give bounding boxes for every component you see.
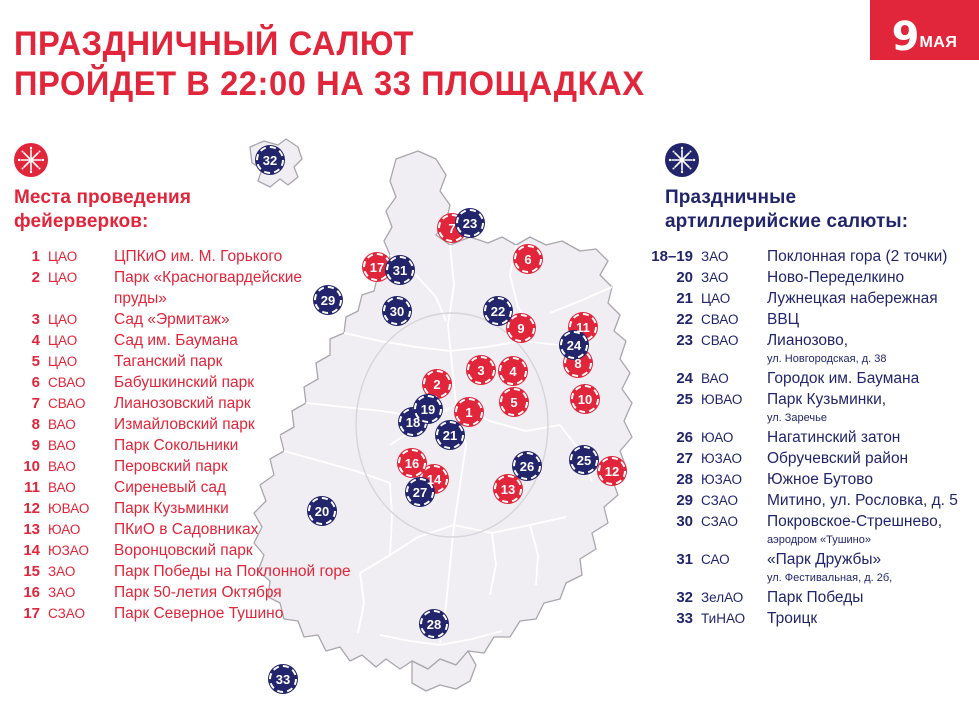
item-number: 24 <box>645 368 693 389</box>
marker-label: 24 <box>567 339 581 352</box>
marker-label: 19 <box>421 403 435 416</box>
list-item: 33ТиНАОТроицк <box>645 608 979 629</box>
item-district: СЗАО <box>693 511 757 532</box>
list-item: 14ЮЗАОВоронцовский парк <box>8 540 398 561</box>
item-number: 2 <box>8 267 40 288</box>
item-number: 33 <box>645 608 693 629</box>
map-marker-22[interactable]: 22 <box>483 296 513 326</box>
list-item: 1ЦАОЦПКиО им. М. Горького <box>8 246 398 267</box>
item-number: 8 <box>8 414 40 435</box>
marker-label: 20 <box>315 505 329 518</box>
marker-label: 23 <box>463 217 477 230</box>
item-number: 17 <box>8 603 40 624</box>
item-number: 6 <box>8 372 40 393</box>
item-venue-name: Парк Кузьминки, <box>757 389 979 410</box>
map-marker-23[interactable]: 23 <box>455 208 485 238</box>
item-venue-name: Парк «Красногвардейские <box>104 267 398 288</box>
item-number: 31 <box>645 549 693 570</box>
right-venue-list: 18–19ЗАОПоклонная гора (2 точки)20ЗАОНов… <box>645 246 979 629</box>
item-district: ТиНАО <box>693 608 757 629</box>
item-district: ВАО <box>40 456 104 477</box>
marker-label: 18 <box>406 416 420 429</box>
item-number: 13 <box>8 519 40 540</box>
item-district: СВАО <box>40 372 104 393</box>
list-item: 22СВАОВВЦ <box>645 309 979 330</box>
item-venue-name: Городок им. Баумана <box>757 368 979 389</box>
artillery-heading: Праздничные артиллерийские салюты: <box>665 186 975 235</box>
list-item: 15ЗАОПарк Победы на Поклонной горе <box>8 561 398 582</box>
artillery-heading-line-1: Праздничные <box>665 186 975 210</box>
item-address-detail: ул. Новгородская, д. 38 <box>767 351 979 368</box>
list-item: 25ЮВАОПарк Кузьминки, <box>645 389 979 410</box>
item-district: ЦАО <box>40 267 104 288</box>
item-venue-name: Парк 50-летия Октября <box>104 582 398 603</box>
marker-label: 26 <box>520 460 534 473</box>
item-district: ЗАО <box>693 267 757 288</box>
item-venue-name: Лужнецкая набережная <box>757 288 979 309</box>
list-item: 17СЗАОПарк Северное Тушино <box>8 603 398 624</box>
item-district: ЗАО <box>40 561 104 582</box>
item-district: ЦАО <box>40 351 104 372</box>
item-number: 14 <box>8 540 40 561</box>
marker-label: 4 <box>509 365 516 378</box>
item-district: ЦАО <box>40 309 104 330</box>
item-venue-name: Лианозово, <box>757 330 979 351</box>
map-marker-28[interactable]: 28 <box>419 609 449 639</box>
item-number: 5 <box>8 351 40 372</box>
item-venue-name: Парк Сокольники <box>104 435 398 456</box>
item-venue-name: Воронцовский парк <box>104 540 398 561</box>
item-number: 25 <box>645 389 693 410</box>
item-address-detail: ул. Заречье <box>767 410 979 427</box>
item-number: 22 <box>645 309 693 330</box>
list-item: 8ВАОИзмайловский парк <box>8 414 398 435</box>
list-item: 18–19ЗАОПоклонная гора (2 точки) <box>645 246 979 267</box>
item-venue-name: Бабушкинский парк <box>104 372 398 393</box>
marker-label: 32 <box>263 154 277 167</box>
page-title: ПРАЗДНИЧНЫЙ САЛЮТ ПРОЙДЕТ В 22:00 НА 33 … <box>14 24 811 104</box>
item-number: 3 <box>8 309 40 330</box>
item-venue-name: Покровское-Стрешнево, <box>757 511 979 532</box>
item-venue-name: Нагатинский затон <box>757 427 979 448</box>
list-item: 10ВАОПеровский парк <box>8 456 398 477</box>
item-address-detail: ул. Фестивальная, д. 2б, <box>767 570 979 587</box>
item-venue-name: Парк Северное Тушино <box>104 603 398 624</box>
map-marker-5[interactable]: 5 <box>499 387 529 417</box>
firework-icon <box>665 143 699 177</box>
item-district: ЗАО <box>40 582 104 603</box>
item-venue-name: Лианозовский парк <box>104 393 398 414</box>
list-item: 29СЗАОМитино, ул. Рословка, д. 5 <box>645 490 979 511</box>
map-marker-25[interactable]: 25 <box>569 445 599 475</box>
item-venue-name: Парк Победы <box>757 587 979 608</box>
list-item: 13ЮАОПКиО в Садовниках <box>8 519 398 540</box>
list-item: 20ЗАОНово-Переделкино <box>645 267 979 288</box>
victory-day-logo: 9 МАЯ <box>870 0 979 60</box>
item-venue-name: Сад «Эрмитаж» <box>104 309 398 330</box>
item-number: 4 <box>8 330 40 351</box>
map-marker-10[interactable]: 10 <box>570 384 600 414</box>
marker-label: 25 <box>577 454 591 467</box>
list-item: 11ВАОСиреневый сад <box>8 477 398 498</box>
list-item: 32ЗелАОПарк Победы <box>645 587 979 608</box>
marker-label: 6 <box>524 253 531 266</box>
item-district: СВАО <box>693 330 757 351</box>
map-marker-16[interactable]: 16 <box>397 448 427 478</box>
marker-label: 9 <box>517 322 524 335</box>
item-number: 18–19 <box>645 246 693 267</box>
item-number: 32 <box>645 587 693 608</box>
item-district: ВАО <box>40 477 104 498</box>
list-item: 7СВАОЛианозовский парк <box>8 393 398 414</box>
marker-label: 30 <box>390 305 404 318</box>
item-venue-name-continued: пруды» <box>114 288 398 309</box>
item-venue-name: Перовский парк <box>104 456 398 477</box>
item-number: 7 <box>8 393 40 414</box>
map-marker-20[interactable]: 20 <box>307 496 337 526</box>
item-district: СЗАО <box>693 490 757 511</box>
item-district: САО <box>693 549 757 570</box>
item-district: ЮЗАО <box>693 448 757 469</box>
artillery-section-header: Праздничные артиллерийские салюты: <box>665 143 975 235</box>
marker-label: 17 <box>370 261 384 274</box>
item-number: 20 <box>645 267 693 288</box>
marker-label: 3 <box>477 364 484 377</box>
map-marker-30[interactable]: 30 <box>382 296 412 326</box>
title-line-1: ПРАЗДНИЧНЫЙ САЛЮТ <box>14 25 414 63</box>
list-item: 12ЮВАОПарк Кузьминки <box>8 498 398 519</box>
item-district: ВАО <box>693 368 757 389</box>
item-venue-name: Сиреневый сад <box>104 477 398 498</box>
item-district: ЮВАО <box>40 498 104 519</box>
item-number: 9 <box>8 435 40 456</box>
item-address-detail: аэродром «Тушино» <box>767 532 979 549</box>
item-district: ЮЗАО <box>40 540 104 561</box>
list-item: 16ЗАОПарк 50-летия Октября <box>8 582 398 603</box>
item-district: СВАО <box>40 393 104 414</box>
item-district: ЮЗАО <box>693 469 757 490</box>
item-venue-name: «Парк Дружбы» <box>757 549 979 570</box>
marker-label: 12 <box>605 465 619 478</box>
item-number: 28 <box>645 469 693 490</box>
marker-label: 5 <box>510 396 517 409</box>
marker-label: 2 <box>433 378 440 391</box>
map-marker-31[interactable]: 31 <box>385 255 415 285</box>
item-number: 21 <box>645 288 693 309</box>
item-district: ЦАО <box>40 330 104 351</box>
marker-label: 33 <box>276 673 290 686</box>
map-marker-32[interactable]: 32 <box>255 145 285 175</box>
marker-label: 7 <box>448 222 455 235</box>
item-venue-name: ПКиО в Садовниках <box>104 519 398 540</box>
item-district: СВАО <box>693 309 757 330</box>
item-venue-name: Поклонная гора (2 точки) <box>757 246 979 267</box>
list-item: 2ЦАОПарк «Красногвардейские <box>8 267 398 288</box>
marker-label: 16 <box>405 457 419 470</box>
item-district: СЗАО <box>40 603 104 624</box>
map-marker-21[interactable]: 21 <box>435 420 465 450</box>
marker-label: 11 <box>576 321 590 334</box>
map-marker-12[interactable]: 12 <box>597 456 627 486</box>
item-district: ЗАО <box>693 246 757 267</box>
item-number: 11 <box>8 477 40 498</box>
list-item: 24ВАОГородок им. Баумана <box>645 368 979 389</box>
item-number: 16 <box>8 582 40 603</box>
list-item: 6СВАОБабушкинский парк <box>8 372 398 393</box>
item-venue-name: Ново-Переделкино <box>757 267 979 288</box>
item-venue-name: Обручевский район <box>757 448 979 469</box>
list-item: 4ЦАОСад им. Баумана <box>8 330 398 351</box>
map-marker-6[interactable]: 6 <box>513 244 543 274</box>
list-item: 26ЮАОНагатинский затон <box>645 427 979 448</box>
infographic-page: 9 МАЯ ПРАЗДНИЧНЫЙ САЛЮТ ПРОЙДЕТ В 22:00 … <box>0 0 979 703</box>
item-venue-name: Митино, ул. Рословка, д. 5 <box>757 490 979 511</box>
marker-label: 28 <box>427 618 441 631</box>
item-number: 30 <box>645 511 693 532</box>
marker-label: 14 <box>427 473 441 486</box>
item-venue-name: Парк Победы на Поклонной горе <box>104 561 398 582</box>
logo-word: МАЯ <box>918 35 957 54</box>
item-district: ЮАО <box>693 427 757 448</box>
list-item: 21ЦАОЛужнецкая набережная <box>645 288 979 309</box>
title-line-2: ПРОЙДЕТ В 22:00 НА 33 ПЛОЩАДКАХ <box>14 64 811 104</box>
item-district: ВАО <box>40 435 104 456</box>
list-item: 3ЦАОСад «Эрмитаж» <box>8 309 398 330</box>
list-item: 5ЦАОТаганский парк <box>8 351 398 372</box>
marker-label: 31 <box>393 264 407 277</box>
map-marker-4[interactable]: 4 <box>498 356 528 386</box>
item-venue-name: Южное Бутово <box>757 469 979 490</box>
marker-label: 21 <box>443 429 457 442</box>
marker-label: 22 <box>491 305 505 318</box>
list-item: 23СВАОЛианозово, <box>645 330 979 351</box>
item-number: 12 <box>8 498 40 519</box>
marker-label: 13 <box>501 483 515 496</box>
item-number: 29 <box>645 490 693 511</box>
marker-label: 29 <box>321 294 335 307</box>
item-number: 15 <box>8 561 40 582</box>
item-district: ЦАО <box>693 288 757 309</box>
list-item: 31САО«Парк Дружбы» <box>645 549 979 570</box>
item-number: 23 <box>645 330 693 351</box>
item-district: ЮВАО <box>693 389 757 410</box>
item-venue-name: Таганский парк <box>104 351 398 372</box>
item-number: 1 <box>8 246 40 267</box>
map-marker-26[interactable]: 26 <box>512 451 542 481</box>
firework-icon <box>14 143 48 177</box>
map-marker-29[interactable]: 29 <box>313 285 343 315</box>
item-district: ЗелАО <box>693 587 757 608</box>
item-venue-name: Измайловский парк <box>104 414 398 435</box>
map-marker-33[interactable]: 33 <box>268 664 298 694</box>
item-number: 10 <box>8 456 40 477</box>
logo-number: 9 <box>892 20 919 54</box>
item-number: 27 <box>645 448 693 469</box>
item-district: ЮАО <box>40 519 104 540</box>
list-item: 30СЗАОПокровское-Стрешнево, <box>645 511 979 532</box>
marker-label: 27 <box>413 486 427 499</box>
list-item: 9ВАОПарк Сокольники <box>8 435 398 456</box>
marker-label: 1 <box>465 406 472 419</box>
item-venue-name: Сад им. Баумана <box>104 330 398 351</box>
item-district: ВАО <box>40 414 104 435</box>
list-item: 27ЮЗАООбручевский район <box>645 448 979 469</box>
list-item: 28ЮЗАОЮжное Бутово <box>645 469 979 490</box>
item-venue-name: ЦПКиО им. М. Горького <box>104 246 398 267</box>
marker-label: 10 <box>578 393 592 406</box>
item-venue-name: Парк Кузьминки <box>104 498 398 519</box>
marker-label: 8 <box>574 357 581 370</box>
item-venue-name: Троицк <box>757 608 979 629</box>
item-district: ЦАО <box>40 246 104 267</box>
item-venue-name: ВВЦ <box>757 309 979 330</box>
map-marker-3[interactable]: 3 <box>466 355 496 385</box>
item-number: 26 <box>645 427 693 448</box>
artillery-heading-line-2: артиллерийские салюты: <box>665 210 975 234</box>
